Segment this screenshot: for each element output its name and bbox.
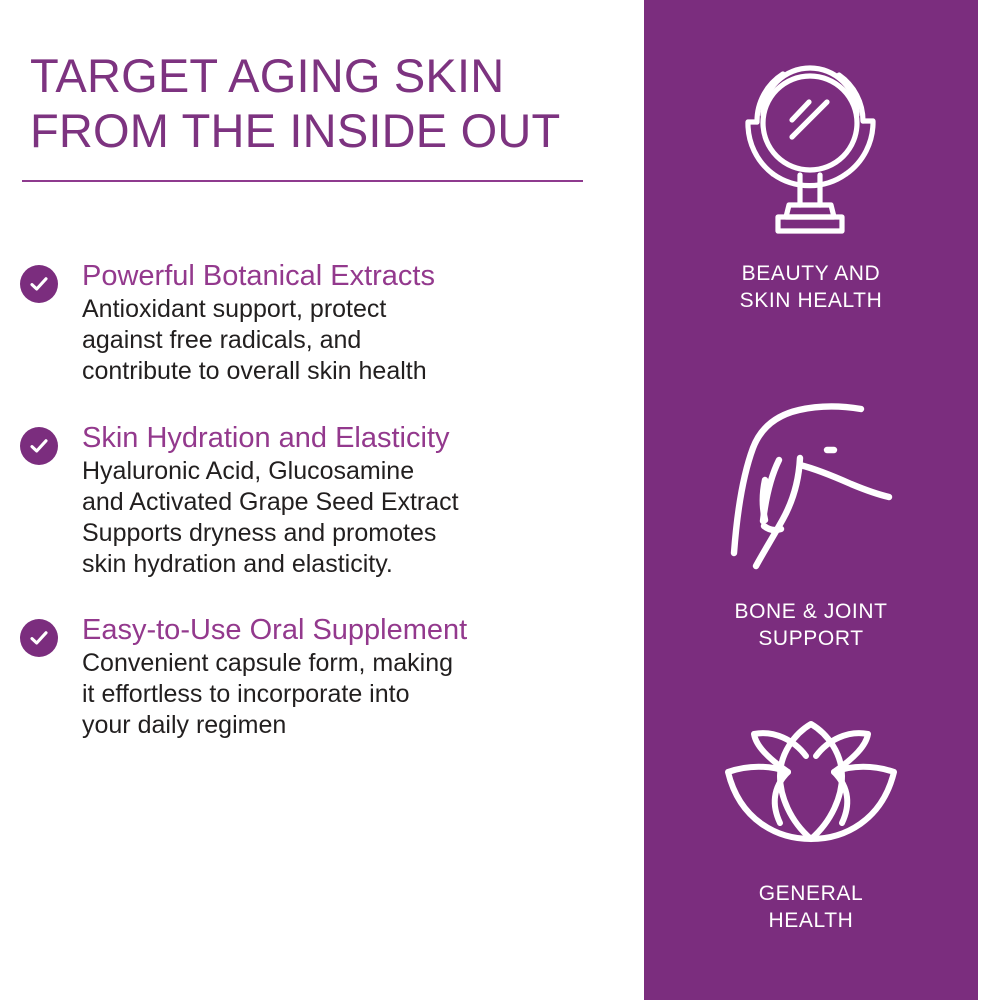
benefit-description: Antioxidant support, protect against fre…	[82, 294, 620, 387]
benefits-list: Powerful Botanical Extracts Antioxidant …	[0, 258, 620, 741]
feature-label: BEAUTY AND SKIN HEALTH	[644, 260, 978, 314]
left-content-pane: TARGET AGING SKIN FROM THE INSIDE OUT Po…	[0, 0, 644, 1000]
vanity-mirror-icon	[644, 42, 978, 242]
feature-beauty-and-skin-health: BEAUTY AND SKIN HEALTH	[644, 42, 978, 314]
shoulder-joint-icon	[644, 392, 978, 572]
promo-graphic: TARGET AGING SKIN FROM THE INSIDE OUT Po…	[0, 0, 1000, 1000]
page-title: TARGET AGING SKIN FROM THE INSIDE OUT	[30, 48, 630, 158]
feature-bone-and-joint-support: BONE & JOINT SUPPORT	[644, 392, 978, 652]
list-item: Skin Hydration and Elasticity Hyaluronic…	[0, 420, 620, 580]
benefit-title: Powerful Botanical Extracts	[82, 258, 620, 294]
list-item: Powerful Botanical Extracts Antioxidant …	[0, 258, 620, 387]
check-circle-icon	[20, 265, 58, 303]
benefit-description: Hyaluronic Acid, Glucosamine and Activat…	[82, 456, 620, 580]
benefit-description: Convenient capsule form, making it effor…	[82, 648, 620, 741]
check-circle-icon	[20, 619, 58, 657]
lotus-flower-icon	[644, 718, 978, 848]
feature-general-health: GENERAL HEALTH	[644, 718, 978, 934]
check-circle-icon	[20, 427, 58, 465]
feature-label: GENERAL HEALTH	[644, 880, 978, 934]
list-item: Easy-to-Use Oral Supplement Convenient c…	[0, 612, 620, 741]
feature-sidebar: BEAUTY AND SKIN HEALTH	[644, 0, 978, 1000]
title-divider	[22, 180, 583, 182]
feature-label: BONE & JOINT SUPPORT	[644, 598, 978, 652]
benefit-title: Easy-to-Use Oral Supplement	[82, 612, 620, 648]
benefit-title: Skin Hydration and Elasticity	[82, 420, 620, 456]
